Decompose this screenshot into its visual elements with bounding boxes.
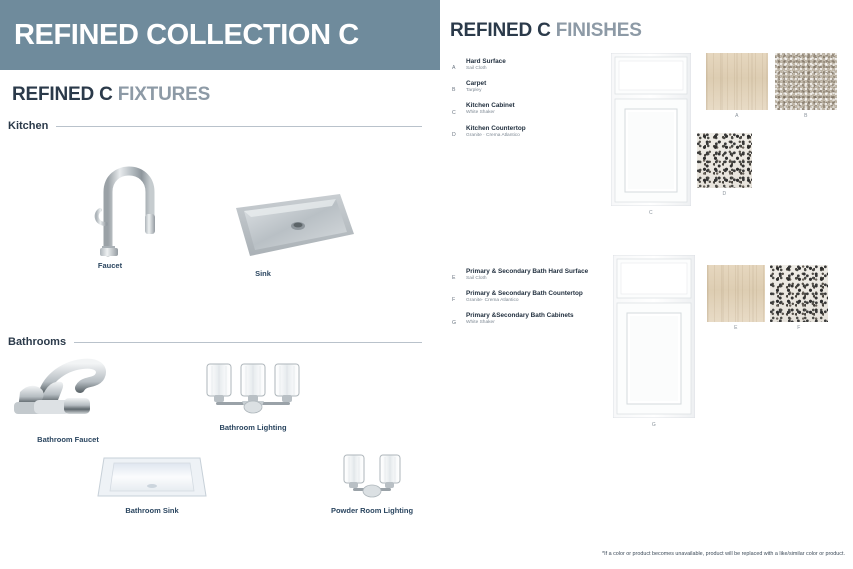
fixture-label-bathroom-lighting: Bathroom Lighting (212, 423, 294, 432)
legend-sub: Granite· Crema Atlantico (466, 298, 588, 304)
legend-sub: White Shaker (466, 110, 526, 116)
finishes-title-bold: REFINED C (450, 20, 551, 41)
hero-banner: REFINED COLLECTION C (0, 0, 440, 70)
legend-key: B (452, 87, 456, 93)
legend-item: B Carpet Tarpley (452, 80, 526, 94)
fixture-label-bathroom-sink: Bathroom Sink (116, 506, 188, 515)
group-header-bathrooms: Bathrooms (8, 336, 422, 348)
group-header-kitchen: Kitchen (8, 120, 422, 132)
disclaimer-footnote: *If a color or product becomes unavailab… (602, 551, 845, 557)
wood-texture (706, 53, 768, 110)
bathroom-sink-image (94, 452, 210, 504)
legend-key: E (452, 275, 456, 281)
fixtures-title-light: FIXTURES (118, 84, 210, 105)
bathroom-faucet-image (8, 358, 116, 420)
finish-legend-bath: E Primary & Secondary Bath Hard Surface … (452, 268, 588, 335)
fixture-label-bathroom-faucet: Bathroom Faucet (28, 435, 108, 444)
legend-sub: Granite · Crema Atlantico (466, 133, 526, 139)
swatch-caption-d: D (697, 191, 752, 197)
fixtures-title-bold: REFINED C (12, 84, 113, 105)
legend-key: A (452, 65, 456, 71)
swatch-cabinet-c: C (611, 53, 691, 206)
legend-item: A Hard Surface Sail Cloth (452, 58, 526, 72)
granite-texture (770, 265, 828, 322)
wood-texture (707, 265, 765, 322)
finishes-title-light: FINISHES (556, 20, 642, 41)
swatch-bath-hard-surface-e: E (707, 265, 765, 322)
swatch-caption-e: E (707, 325, 765, 331)
white-shaker-bath-cabinet-image (613, 255, 695, 418)
carpet-texture (775, 53, 837, 110)
fixture-label-faucet: Faucet (80, 261, 140, 270)
group-label-kitchen: Kitchen (8, 120, 56, 132)
spec-sheet-page: REFINED COLLECTION C REFINED C FIXTURES … (0, 0, 853, 569)
finish-legend-kitchen: A Hard Surface Sail Cloth B Carpet Tarpl… (452, 58, 526, 147)
swatch-caption-c: C (611, 210, 691, 216)
powder-room-lighting-image (338, 452, 406, 504)
divider-rule (74, 342, 422, 343)
granite-texture (697, 133, 752, 188)
swatch-countertop-d: D (697, 133, 752, 188)
swatch-caption-f: F (770, 325, 828, 331)
legend-sub: Sail Cloth (466, 66, 526, 72)
legend-item: G Primary &Secondary Bath Cabinets White… (452, 312, 588, 326)
finishes-section-title: REFINED C FINISHES (450, 20, 642, 42)
fixture-label-powder-room-lighting: Powder Room Lighting (330, 506, 414, 515)
swatch-cabinet-g: G (613, 255, 695, 418)
swatch-hard-surface-a: A (706, 53, 768, 110)
fixtures-section-title: REFINED C FIXTURES (12, 84, 210, 106)
kitchen-sink-image (228, 192, 356, 260)
kitchen-faucet-image (88, 140, 174, 258)
fixture-label-sink: Sink (235, 269, 291, 278)
legend-key: C (452, 110, 456, 116)
legend-sub: White Shaker (466, 320, 588, 326)
swatch-bath-countertop-f: F (770, 265, 828, 322)
swatch-carpet-b: B (775, 53, 837, 110)
legend-name: Kitchen Countertop (466, 125, 526, 133)
legend-item: D Kitchen Countertop Granite · Crema Atl… (452, 125, 526, 139)
white-shaker-cabinet-image (611, 53, 691, 206)
legend-sub: Sail Cloth (466, 276, 588, 282)
page-title: REFINED COLLECTION C (0, 19, 359, 52)
swatch-caption-a: A (706, 113, 768, 119)
legend-item: C Kitchen Cabinet White Shaker (452, 102, 526, 116)
group-label-bathrooms: Bathrooms (8, 336, 74, 348)
legend-key: D (452, 132, 456, 138)
legend-item: F Primary & Secondary Bath Countertop Gr… (452, 290, 588, 304)
bathroom-lighting-image (200, 360, 306, 420)
divider-rule (56, 126, 422, 127)
legend-name: Hard Surface (466, 58, 526, 66)
swatch-caption-b: B (775, 113, 837, 119)
legend-key: F (452, 297, 455, 303)
legend-sub: Tarpley (466, 88, 526, 94)
legend-item: E Primary & Secondary Bath Hard Surface … (452, 268, 588, 282)
swatch-caption-g: G (613, 422, 695, 428)
legend-name: Primary & Secondary Bath Hard Surface (466, 268, 588, 276)
legend-key: G (452, 320, 456, 326)
